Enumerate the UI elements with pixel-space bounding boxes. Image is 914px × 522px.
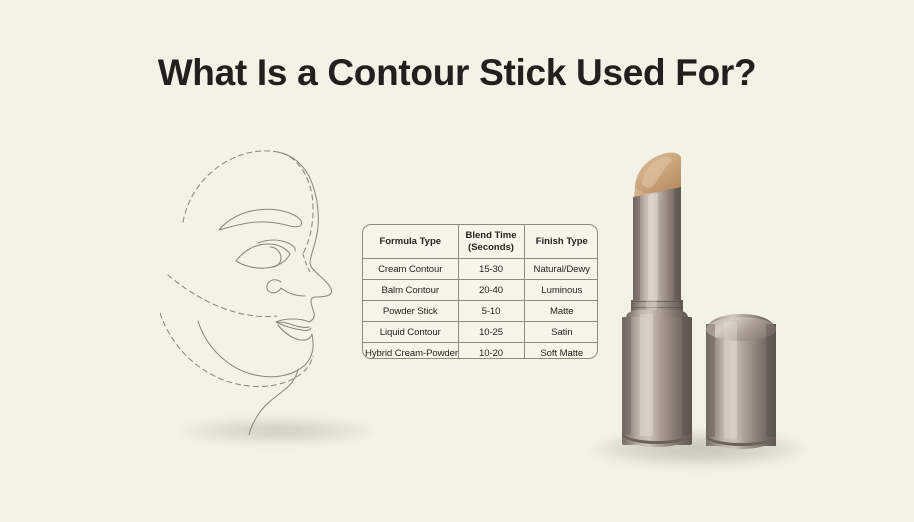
contour-stick-cap <box>706 314 776 449</box>
cap-top-ellipse <box>706 317 776 341</box>
stick-upper-barrel-right-edge <box>674 187 681 310</box>
stick-base-barrel <box>622 310 692 447</box>
table-row: Cream Contour 15-30 Natural/Dewy <box>363 259 598 280</box>
temple-dashed-path <box>290 157 313 254</box>
cell-formula-type: Liquid Contour <box>363 322 458 343</box>
table-row: Balm Contour 20-40 Luminous <box>363 280 598 301</box>
cap-bottom-ellipse-inner <box>706 425 776 443</box>
table-header-row: Formula Type Blend Time (Seconds) Finish… <box>363 225 598 259</box>
cell-finish-type: Natural/Dewy <box>524 259 598 280</box>
cell-finish-type: Satin <box>524 322 598 343</box>
face-lineart-svg <box>160 135 380 435</box>
hairline-dashed-path <box>183 151 290 222</box>
stick-upper-barrel-left-edge <box>633 196 640 310</box>
cell-formula-type: Cream Contour <box>363 259 458 280</box>
stick-base-left-edge <box>622 317 631 435</box>
contour-stick-svg <box>596 140 796 470</box>
cell-formula-type: Balm Contour <box>363 280 458 301</box>
column-header-finish-type: Finish Type <box>524 225 598 259</box>
nose-side-dashed-path <box>303 254 310 272</box>
column-header-blend-time: Blend Time (Seconds) <box>458 225 524 259</box>
eye-lower-lid-path <box>236 254 290 268</box>
face-profile-contour-lineart <box>160 135 380 435</box>
stick-base-highlight <box>640 314 653 436</box>
nostril-path <box>267 280 281 293</box>
stick-base-bottom-ellipse-inner <box>622 423 692 441</box>
eyebrow-path <box>219 209 302 230</box>
cell-formula-type: Hybrid Cream-Powder <box>363 343 458 360</box>
poster-canvas: What Is a Contour Stick Used For? <box>0 0 914 522</box>
cheekbone-dashed-path <box>168 275 277 317</box>
cell-finish-type: Matte <box>524 301 598 322</box>
cell-blend-time: 10-25 <box>458 322 524 343</box>
cell-finish-type: Luminous <box>524 280 598 301</box>
header-line: Finish Type <box>536 236 588 247</box>
cap-right-edge <box>766 324 776 437</box>
header-line: Formula Type <box>379 236 441 247</box>
stick-base-shoulder <box>626 310 688 318</box>
table-row: Liquid Contour 10-25 Satin <box>363 322 598 343</box>
cell-blend-time: 10-20 <box>458 343 524 360</box>
contour-stick <box>596 140 796 470</box>
column-header-formula-type: Formula Type <box>363 225 458 259</box>
header-line: Blend Time <box>465 230 516 241</box>
cell-finish-type: Soft Matte <box>524 343 598 360</box>
formula-spec-table: Formula Type Blend Time (Seconds) Finish… <box>362 224 598 359</box>
page-title: What Is a Contour Stick Used For? <box>0 52 914 94</box>
cap-left-edge <box>706 324 715 437</box>
cap-highlight <box>724 322 737 438</box>
stick-upper-barrel-highlight <box>648 193 658 310</box>
nose-base-path <box>281 288 305 296</box>
stick-upper-barrel <box>633 187 681 310</box>
spec-table-element: Formula Type Blend Time (Seconds) Finish… <box>363 225 598 359</box>
table-row: Hybrid Cream-Powder 10-20 Soft Matte <box>363 343 598 360</box>
upper-lip-path <box>276 319 309 327</box>
iris-path <box>270 247 281 267</box>
header-line: (Seconds) <box>468 242 514 253</box>
cell-formula-type: Powder Stick <box>363 301 458 322</box>
cell-blend-time: 20-40 <box>458 280 524 301</box>
cell-blend-time: 5-10 <box>458 301 524 322</box>
table-row: Powder Stick 5-10 Matte <box>363 301 598 322</box>
stick-base-right-edge <box>682 317 692 435</box>
cell-blend-time: 15-30 <box>458 259 524 280</box>
eye-upper-lid-path <box>236 244 290 261</box>
